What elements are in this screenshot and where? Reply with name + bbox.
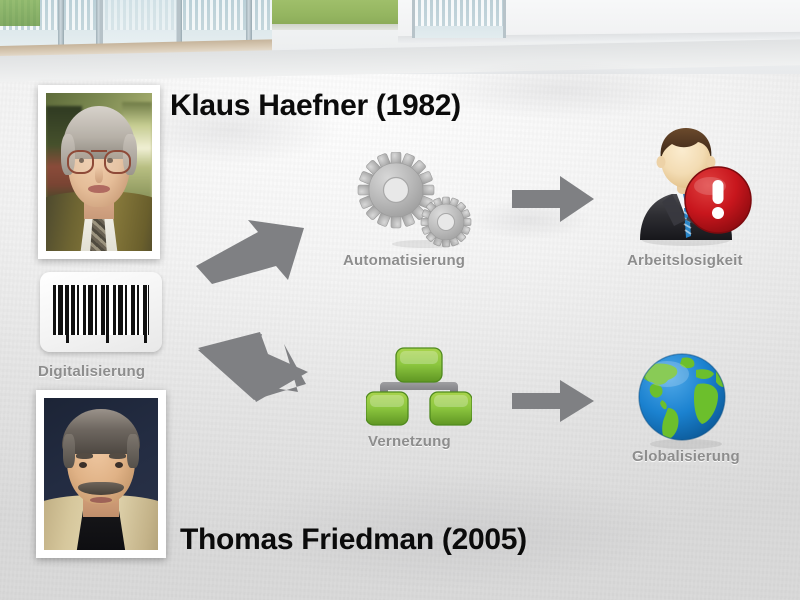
label-arbeitslosigkeit: Arbeitslosigkeit [627,252,743,269]
network-hierarchy-icon [366,346,472,428]
portrait-nose [95,167,103,183]
label-digitalisierung: Digitalisierung [38,363,145,380]
globe-icon [634,352,742,450]
portrait-mouth [90,497,113,503]
arrow-right-top-icon [512,176,594,222]
barcode-icon [40,272,162,352]
portrait-mouth [88,185,109,193]
portrait-eyebrow-right [109,453,126,459]
outdoor-grass [0,0,40,26]
arrow-right-bottom-icon [512,380,594,422]
label-vernetzung: Vernetzung [368,433,451,450]
arrow-up-right-icon [196,218,306,286]
portrait-sideburn-right [127,434,138,467]
portrait-eyebrow-left [76,453,93,459]
slide-canvas: Klaus Haefner (1982) Digitalisierung Tho… [0,0,800,600]
glasses-lens-left [67,150,94,174]
glasses-bridge [91,150,108,153]
gears-icon [352,152,478,248]
window-mullion [58,0,64,48]
heading-thomas-friedman: Thomas Friedman (2005) [180,523,527,557]
barcode-guard-bar [106,285,109,343]
floor-smudge [430,60,690,120]
right-glass-door [412,0,506,38]
heading-klaus-haefner: Klaus Haefner (1982) [170,89,461,123]
portrait-eye-right [115,462,123,468]
label-automatisierung: Automatisierung [343,252,465,269]
barcode-guard-bar [144,285,147,343]
thomas-friedman-portrait [36,390,166,558]
klaus-haefner-portrait [38,85,160,259]
barcode-guard-bar [66,285,69,343]
arrow-down-right-icon [198,332,310,402]
green-wall-base [268,24,398,30]
green-wall-panel [268,0,398,26]
portrait-sideburn-left [63,434,74,467]
glasses-lens-right [104,150,131,174]
person-alert-icon [628,122,760,246]
label-globalisierung: Globalisierung [632,448,740,465]
